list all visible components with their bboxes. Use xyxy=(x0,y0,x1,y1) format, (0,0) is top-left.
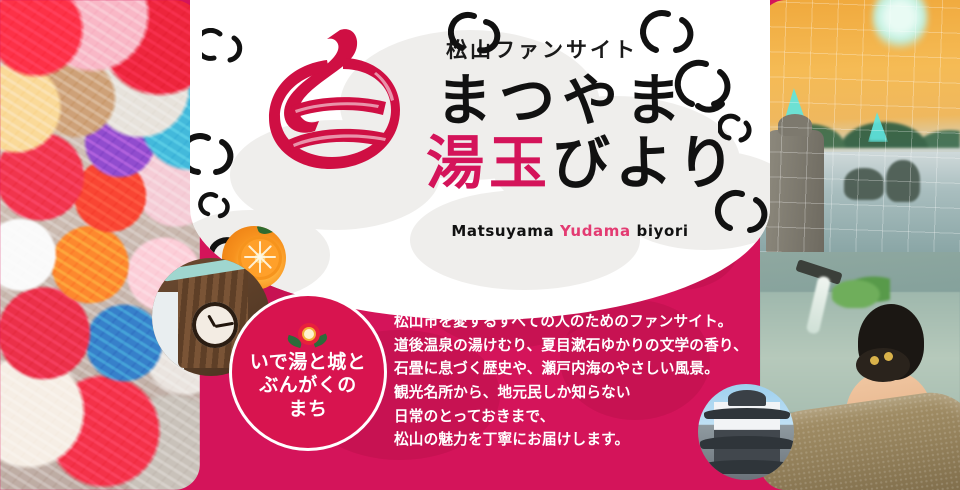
clock-minute-hand xyxy=(215,322,234,328)
slogan-text: いで湯と城と ぶんがくの まち xyxy=(250,351,366,421)
romaji-post: biyori xyxy=(631,222,689,240)
description-line: 日常のとっておきまで、 xyxy=(394,405,754,429)
description-line: 道後温泉の湯けむり、夏目漱石ゆかりの文学の香り、 xyxy=(394,334,754,358)
page-title-line1: まつやま xyxy=(436,74,688,130)
mikan-leaf xyxy=(257,226,275,236)
steam-bubble-doodle xyxy=(448,10,504,62)
slogan-line-1: いで湯と城と xyxy=(250,351,366,374)
steam-bubble-doodle xyxy=(190,128,244,186)
bather-hair-bun xyxy=(856,348,910,382)
slogan-line-2: ぶんがくの xyxy=(250,374,366,397)
romaji-pre: Matsuyama xyxy=(451,222,560,240)
description-line: 観光名所から、地元民しか知らない xyxy=(394,381,754,405)
hair-pin xyxy=(884,352,893,361)
steam-bubble-doodle xyxy=(714,186,770,242)
page-title-line2: 湯玉びより xyxy=(426,134,740,192)
steam-bubble-doodle xyxy=(202,28,254,72)
site-hero-banner: 松山ファンサイト まつやま 湯玉びより Matsuyama Yudama biy… xyxy=(0,0,960,490)
steam-bubble-doodle xyxy=(718,112,756,146)
description-line: 石畳に息づく歴史や、瀬戸内海のやさしい風景。 xyxy=(394,357,754,381)
steam-bubble-doodle xyxy=(198,190,234,222)
description-line: 松山市を愛するすべての人のためのファンサイト。 xyxy=(394,310,754,334)
description-block: 松山市を愛するすべての人のためのファンサイト。 道後温泉の湯けむり、夏目漱石ゆか… xyxy=(394,310,754,452)
page-title-accent: 湯玉 xyxy=(426,129,552,197)
steam-cloud xyxy=(410,190,640,290)
romaji-accent: Yudama xyxy=(560,222,631,240)
temari-balls-image xyxy=(0,0,200,490)
slogan-line-3: まち xyxy=(250,398,366,421)
page-title-line2-suffix: びより xyxy=(552,129,740,197)
clock-face xyxy=(192,302,238,348)
camellia-icon xyxy=(291,323,325,349)
hair-pin xyxy=(870,356,879,365)
description-line: 松山の魅力を丁寧にお届けします。 xyxy=(394,428,754,452)
onsen-bather-photo xyxy=(760,252,960,490)
onsen-tile-mural-photo xyxy=(760,0,960,252)
yudama-brush-logo xyxy=(248,24,438,220)
steam-bubble-doodle xyxy=(672,56,742,118)
tile-grid-overlay xyxy=(760,0,960,252)
temari-balls-photo xyxy=(0,0,200,490)
slogan-badge: いで湯と城と ぶんがくの まち xyxy=(232,296,384,448)
page-title-romaji: Matsuyama Yudama biyori xyxy=(380,222,760,240)
castle-eave xyxy=(698,460,794,474)
